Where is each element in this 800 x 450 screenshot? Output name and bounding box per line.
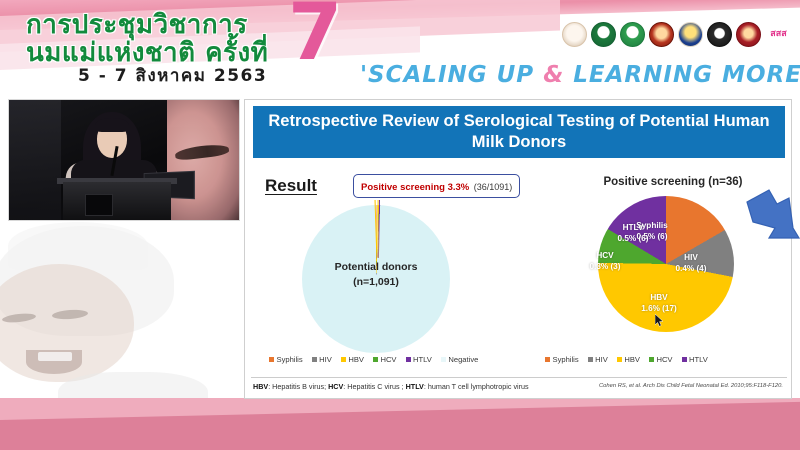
abbrev-hcv-key: HCV (328, 382, 343, 391)
all-donors-legend: Syphilis HIV HBV HCV HTLV Negative (269, 355, 478, 364)
pie-slice-label-htlv: HTLV 0.5% (6) (607, 222, 659, 244)
speaker-video-panel[interactable] (8, 99, 240, 221)
legend-swatch-syphilis-left (269, 357, 274, 362)
speaker-hair-fringe (95, 118, 129, 132)
royal-garuda-logo (678, 22, 703, 47)
conference-header-banner: การประชุมวิชาการ นมแม่แห่งชาติ ครั้งที่ … (0, 0, 800, 95)
legend-swatch-hiv-right (588, 357, 593, 362)
legend-swatch-hiv-left (312, 357, 317, 362)
legend-item-hcv-left: HCV (373, 355, 397, 364)
positive-screening-callout: Positive screening 3.3% (36/1091) (353, 174, 520, 198)
blue-arrow-icon (743, 188, 800, 246)
tagline-ampersand: & (543, 62, 564, 88)
slice-value-hcv: 0.3% (3) (581, 261, 629, 272)
footer-pink-bar (0, 398, 800, 450)
video-wall-left (9, 100, 61, 220)
legend-label-htlv-left: HTLV (413, 355, 432, 364)
all-donors-center-line1: Potential donors (302, 260, 450, 275)
all-donors-center-label: Potential donors (n=1,091) (302, 260, 450, 290)
result-heading: Result (265, 176, 317, 196)
positive-screening-legend: Syphilis HIV HBV HCV HTLV (545, 355, 708, 364)
university-crest-logo (736, 22, 761, 47)
abbrev-hbv-val: : Hepatitis B virus; (268, 382, 328, 391)
tagline-part2: LEARNING MORE' (564, 62, 800, 88)
thaihealth-sss-logo: สสส (765, 22, 792, 47)
legend-swatch-negative-left (441, 357, 446, 362)
legend-swatch-hbv-left (341, 357, 346, 362)
buddha-emblem-logo (562, 22, 587, 47)
royal-crest-red-logo (649, 22, 674, 47)
slice-name-hiv: HIV (663, 252, 719, 263)
callout-detail-text: (36/1091) (474, 182, 513, 192)
abbrev-htlv-key: HTLV (406, 382, 424, 391)
legend-label-htlv-right: HTLV (689, 355, 708, 364)
legend-label-hbv-right: HBV (624, 355, 640, 364)
legend-item-hbv-left: HBV (341, 355, 364, 364)
mouse-cursor-icon (655, 314, 664, 327)
ministry-public-health-logo (591, 22, 616, 47)
legend-label-syphilis-left: Syphilis (277, 355, 303, 364)
legend-item-hbv-right: HBV (617, 355, 640, 364)
legend-item-negative-left: Negative (441, 355, 478, 364)
slide-title: Retrospective Review of Serological Test… (253, 106, 785, 158)
legend-item-htlv-right: HTLV (682, 355, 708, 364)
legend-item-hcv-right: HCV (649, 355, 673, 364)
department-health-logo (620, 22, 645, 47)
legend-item-hiv-right: HIV (588, 355, 608, 364)
all-donors-center-line2: (n=1,091) (302, 275, 450, 290)
slice-value-hiv: 0.4% (4) (663, 263, 719, 274)
legend-swatch-htlv-left (406, 357, 411, 362)
legend-label-hiv-left: HIV (319, 355, 332, 364)
legend-item-syphilis-left: Syphilis (269, 355, 303, 364)
conference-date: 5 - 7 สิงหาคม 2563 (78, 62, 267, 89)
presentation-slide: Retrospective Review of Serological Test… (244, 99, 792, 399)
legend-label-hcv-left: HCV (380, 355, 396, 364)
slice-name-htlv: HTLV (607, 222, 659, 233)
legend-swatch-hbv-right (617, 357, 622, 362)
callout-highlight-text: Positive screening 3.3% (361, 182, 469, 193)
legend-swatch-hcv-right (649, 357, 654, 362)
slice-name-hcv: HCV (581, 250, 629, 261)
podium (63, 182, 171, 220)
pie-slice-label-hcv: HCV 0.3% (3) (581, 250, 629, 272)
legend-label-hbv-left: HBV (348, 355, 364, 364)
legend-swatch-htlv-right (682, 357, 687, 362)
sponsor-logos-row: สสส (562, 22, 792, 47)
legend-label-hcv-right: HCV (656, 355, 672, 364)
tagline-part1: 'SCALING UP (360, 62, 543, 88)
legend-swatch-syphilis-right (545, 357, 550, 362)
abbrev-hbv-key: HBV (253, 382, 268, 391)
footer-divider (251, 377, 787, 378)
abbrev-hcv-val: : Hepatitis C virus ; (343, 382, 405, 391)
baby-hat-crown (8, 222, 148, 270)
pie-slice-label-hbv: HBV 1.6% (17) (623, 292, 695, 314)
conference-tagline: 'SCALING UP & LEARNING MORE' (360, 62, 800, 88)
source-citation: Cohen RS, et al. Arch Dis Child Fetal Ne… (599, 383, 783, 389)
footer-pink-bar-highlight (0, 398, 800, 420)
legend-swatch-hcv-left (373, 357, 378, 362)
legend-item-hiv-left: HIV (312, 355, 332, 364)
black-seal-logo (707, 22, 732, 47)
slice-value-htlv: 0.5% (6) (607, 233, 659, 244)
baby-watermark-image (0, 222, 242, 408)
legend-item-htlv-left: HTLV (406, 355, 432, 364)
positive-screening-chart-title: Positive screening (n=36) (563, 176, 783, 188)
baby-teeth (38, 352, 72, 361)
legend-item-syphilis-right: Syphilis (545, 355, 579, 364)
legend-label-syphilis-right: Syphilis (553, 355, 579, 364)
slice-name-hbv: HBV (623, 292, 695, 303)
legend-label-negative-left: Negative (448, 355, 478, 364)
abbreviations-note: HBV: Hepatitis B virus; HCV: Hepatitis C… (253, 382, 529, 391)
video-closeup-face-overlay (167, 100, 239, 221)
abbrev-htlv-val: : human T cell lymphotropic virus (424, 382, 529, 391)
legend-label-hiv-right: HIV (595, 355, 608, 364)
slice-value-hbv: 1.6% (17) (623, 303, 695, 314)
conference-edition-number: 7 (288, 0, 342, 72)
podium-panel (85, 194, 113, 216)
pie-slice-label-hiv: HIV 0.4% (4) (663, 252, 719, 274)
